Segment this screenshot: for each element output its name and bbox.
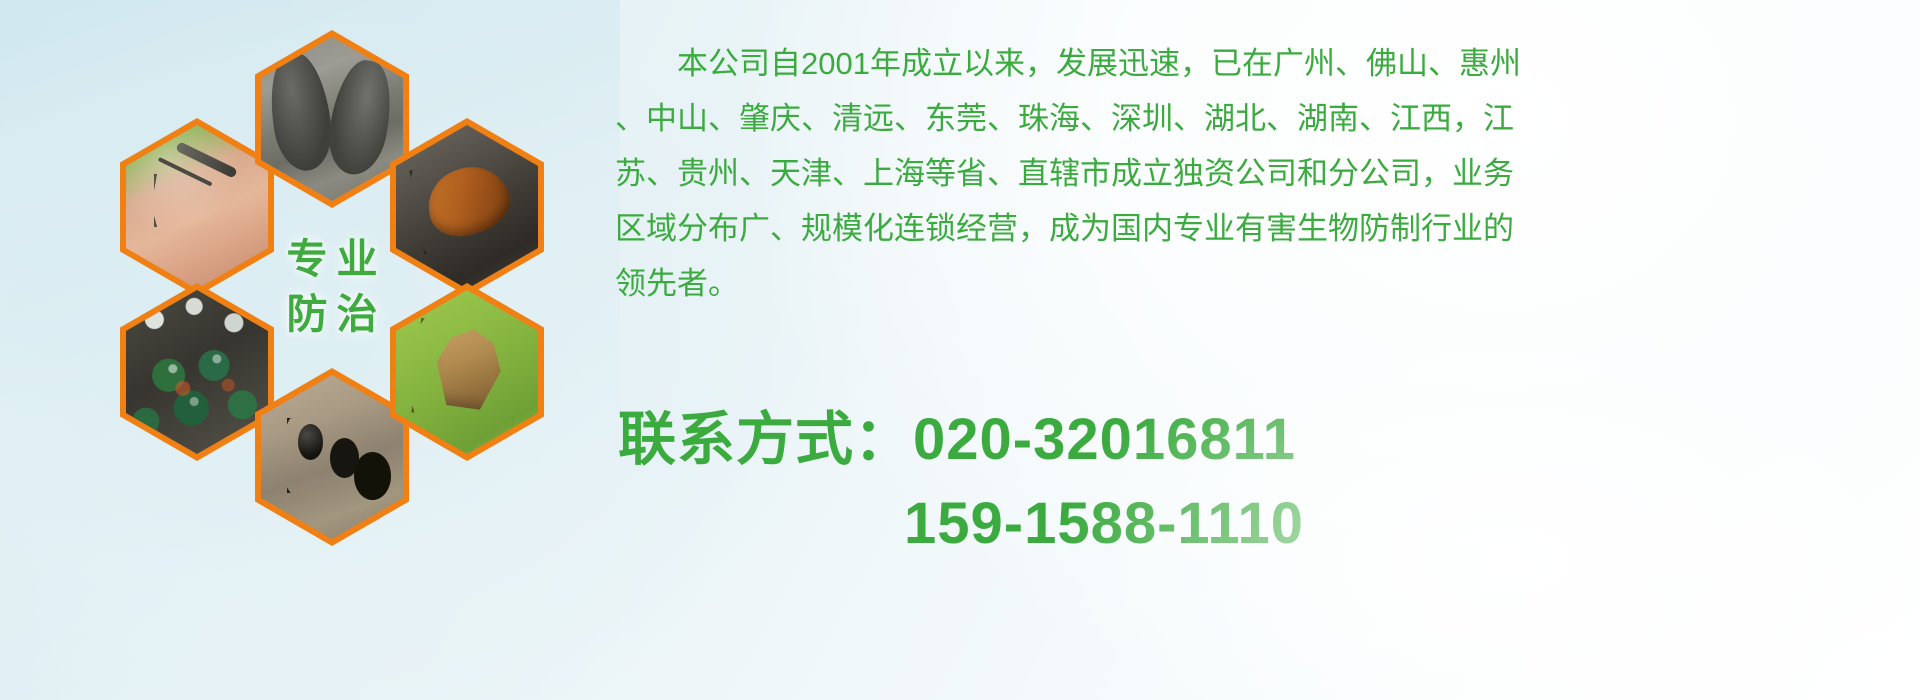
intro-line-2: 、中山、肇庆、清远、东莞、珠海、深圳、湖北、湖南、江西，江 xyxy=(615,91,1905,146)
cockroach-photo xyxy=(390,118,544,296)
contact-phone-landline[interactable]: 联系方式：020-32016811 xyxy=(618,398,1908,482)
stinkbug-photo xyxy=(390,283,544,461)
mosquito-photo xyxy=(120,118,274,296)
intro-line-4: 区域分布广、规模化连锁经营，成为国内专业有害生物防制行业的 xyxy=(615,201,1905,256)
intro-line-3: 苏、贵州、天津、上海等省、直辖市成立独资公司和分公司，业务 xyxy=(615,146,1905,201)
cockroach-icon xyxy=(396,125,538,289)
rats-photo-inner xyxy=(261,37,403,201)
cockroach-photo-inner xyxy=(396,125,538,289)
mosquito-photo-inner xyxy=(126,125,268,289)
company-intro-block: 本公司自2001年成立以来，发展迅速，已在广州、佛山、惠州 、中山、肇庆、清远、… xyxy=(615,36,1905,311)
flies-photo-inner xyxy=(126,290,268,454)
ant-photo xyxy=(255,368,409,546)
intro-line-1: 本公司自2001年成立以来，发展迅速，已在广州、佛山、惠州 xyxy=(615,36,1905,91)
hex-photo-cluster: 专业 防治 xyxy=(80,8,600,568)
rat-icon xyxy=(261,37,403,201)
fly-icon xyxy=(126,290,268,454)
contact-block: 联系方式：020-32016811 159-1588-1110 xyxy=(618,398,1908,566)
ant-icon xyxy=(261,375,403,539)
badge-line-1: 专业 xyxy=(278,239,387,280)
rats-photo xyxy=(255,30,409,208)
intro-line-5: 领先者。 xyxy=(615,256,1905,311)
stinkbug-icon xyxy=(396,290,538,454)
stinkbug-photo-inner xyxy=(396,290,538,454)
badge-line-2: 防治 xyxy=(278,294,387,335)
contact-phone-mobile[interactable]: 159-1588-1110 xyxy=(618,482,1908,566)
badge-zhuanye-fangzhi: 专业 防治 xyxy=(255,198,409,376)
flies-photo xyxy=(120,283,274,461)
company-intro-text: 本公司自2001年成立以来，发展迅速，已在广州、佛山、惠州 、中山、肇庆、清远、… xyxy=(615,36,1905,311)
ant-photo-inner xyxy=(261,375,403,539)
promo-banner: 专业 防治 本公司自2001年成立以来，发展迅速，已在广州、佛山、惠州 、中山、… xyxy=(0,0,1920,700)
mosquito-icon xyxy=(126,125,268,289)
